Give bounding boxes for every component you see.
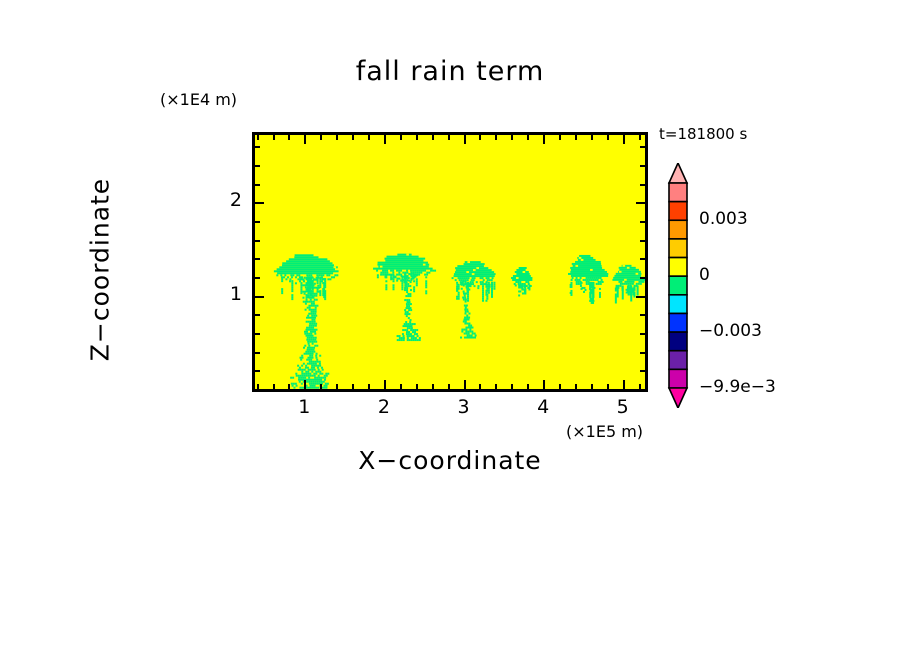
y-minor-tick	[255, 314, 260, 316]
colorbar-band	[669, 202, 687, 221]
colorbar-band	[669, 276, 687, 295]
y-minor-tick	[255, 221, 260, 223]
y-minor-tick	[255, 258, 260, 260]
x-minor-tick	[320, 384, 322, 389]
x-minor-tick-top	[511, 135, 513, 140]
x-minor-tick	[575, 384, 577, 389]
y-major-tick	[255, 296, 264, 298]
colorbar-tick-label: 0.003	[699, 209, 748, 229]
x-minor-tick-top	[527, 135, 529, 140]
x-major-tick	[304, 380, 306, 389]
y-minor-tick	[255, 333, 260, 335]
y-minor-tick	[255, 146, 260, 148]
x-minor-tick-top	[591, 135, 593, 140]
x-tick-label: 1	[284, 396, 324, 418]
x-minor-tick	[352, 384, 354, 389]
x-tick-label: 5	[603, 396, 643, 418]
x-minor-tick-top	[416, 135, 418, 140]
x-major-tick	[543, 380, 545, 389]
x-major-tick	[464, 380, 466, 389]
y-minor-tick-right	[640, 258, 645, 260]
x-axis-unit-label: (×1E5 m)	[566, 422, 643, 441]
x-minor-tick	[288, 384, 290, 389]
page-title: fall rain term	[252, 56, 648, 87]
plot-area	[252, 132, 648, 392]
colorbar-band	[669, 332, 687, 351]
x-minor-tick	[416, 384, 418, 389]
y-axis-title: Z−coordinate	[86, 140, 115, 400]
colorbar-tick-label: 0	[699, 265, 710, 285]
x-major-tick	[384, 380, 386, 389]
x-tick-label: 2	[364, 396, 404, 418]
x-axis-title: X−coordinate	[252, 446, 648, 475]
x-minor-tick	[495, 384, 497, 389]
x-minor-tick	[527, 384, 529, 389]
y-major-tick-right	[636, 296, 645, 298]
x-minor-tick-top	[639, 135, 641, 140]
x-minor-tick	[591, 384, 593, 389]
x-major-tick-top	[543, 135, 545, 144]
x-minor-tick-top	[575, 135, 577, 140]
x-minor-tick	[273, 384, 275, 389]
x-minor-tick-top	[336, 135, 338, 140]
colorbar-band	[669, 295, 687, 314]
x-minor-tick	[336, 384, 338, 389]
x-minor-tick-top	[400, 135, 402, 140]
y-major-tick-right	[636, 389, 645, 391]
y-minor-tick	[255, 370, 260, 372]
colorbar-svg	[661, 163, 695, 408]
y-minor-tick	[255, 240, 260, 242]
colorbar-band	[669, 258, 687, 277]
x-minor-tick-top	[320, 135, 322, 140]
colorbar	[661, 163, 695, 408]
x-tick-label: 4	[523, 396, 563, 418]
x-minor-tick-top	[368, 135, 370, 140]
x-major-tick-top	[304, 135, 306, 144]
y-minor-tick-right	[640, 184, 645, 186]
x-minor-tick	[559, 384, 561, 389]
x-minor-tick-top	[495, 135, 497, 140]
x-major-tick-top	[464, 135, 466, 144]
colorbar-band	[669, 369, 687, 388]
x-tick-label: 3	[444, 396, 484, 418]
colorbar-top-arrow	[669, 163, 687, 183]
colorbar-band	[669, 351, 687, 370]
x-minor-tick-top	[448, 135, 450, 140]
y-minor-tick	[255, 165, 260, 167]
timestamp-annotation: t=181800 s	[659, 125, 747, 143]
x-minor-tick	[448, 384, 450, 389]
x-minor-tick	[479, 384, 481, 389]
x-minor-tick	[368, 384, 370, 389]
colorbar-band	[669, 313, 687, 332]
x-minor-tick-top	[288, 135, 290, 140]
colorbar-band	[669, 183, 687, 202]
x-minor-tick-top	[257, 135, 259, 140]
x-minor-tick-top	[479, 135, 481, 140]
y-minor-tick-right	[640, 165, 645, 167]
colorbar-tick-label: −0.003	[699, 321, 762, 341]
x-minor-tick-top	[432, 135, 434, 140]
y-minor-tick-right	[640, 146, 645, 148]
y-minor-tick-right	[640, 240, 645, 242]
x-minor-tick-top	[607, 135, 609, 140]
y-minor-tick	[255, 352, 260, 354]
y-tick-label: 2	[212, 189, 242, 211]
y-major-tick-right	[636, 202, 645, 204]
x-major-tick-top	[384, 135, 386, 144]
x-minor-tick	[400, 384, 402, 389]
x-minor-tick	[607, 384, 609, 389]
y-minor-tick-right	[640, 333, 645, 335]
x-major-tick-top	[623, 135, 625, 144]
y-minor-tick	[255, 277, 260, 279]
y-minor-tick-right	[640, 277, 645, 279]
y-minor-tick-right	[640, 221, 645, 223]
x-minor-tick-top	[273, 135, 275, 140]
y-minor-tick-right	[640, 352, 645, 354]
x-minor-tick-top	[559, 135, 561, 140]
colorbar-band	[669, 220, 687, 239]
colorbar-band	[669, 239, 687, 258]
figure-canvas: fall rain term (×1E4 m) t=181800 s 12345…	[0, 0, 904, 654]
y-axis-unit-label: (×1E4 m)	[160, 90, 237, 109]
y-major-tick	[255, 202, 264, 204]
y-minor-tick-right	[640, 370, 645, 372]
x-minor-tick	[511, 384, 513, 389]
colorbar-tick-label: −9.9e−3	[699, 377, 776, 397]
y-minor-tick-right	[640, 314, 645, 316]
contour-field	[255, 135, 645, 389]
x-minor-tick-top	[352, 135, 354, 140]
y-major-tick	[255, 389, 264, 391]
y-minor-tick	[255, 184, 260, 186]
colorbar-bottom-arrow	[669, 388, 687, 408]
y-tick-label: 1	[212, 283, 242, 305]
x-minor-tick	[432, 384, 434, 389]
x-major-tick	[623, 380, 625, 389]
